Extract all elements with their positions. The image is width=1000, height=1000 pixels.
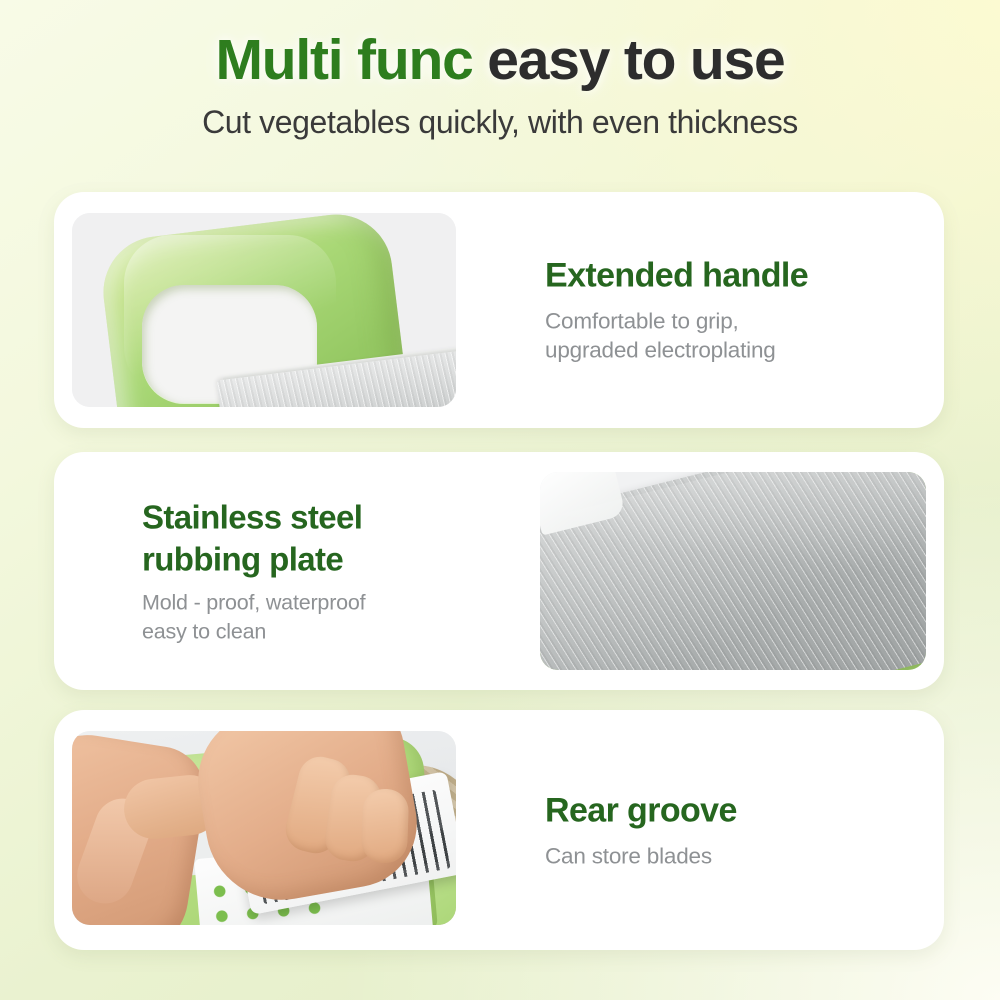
- feature-card-stainless-steel-rubbing-plate: Stainless steelrubbing plate Mold - proo…: [54, 452, 944, 690]
- feature-card-rear-groove: Rear groove Can store blades: [54, 710, 944, 950]
- feature-description: Mold - proof, waterproofeasy to clean: [142, 589, 562, 646]
- product-photo-green-handle: [72, 213, 456, 407]
- feature-heading: Extended handle: [545, 255, 914, 299]
- feature-text-block: Stainless steelrubbing plate Mold - proo…: [142, 496, 562, 645]
- header: Multi func easy to use Cut vegetables qu…: [0, 30, 1000, 141]
- feature-text-block: Rear groove Can store blades: [545, 789, 914, 870]
- feature-heading-line-1: Stainless steel: [142, 498, 362, 535]
- product-feature-infographic: Multi func easy to use Cut vegetables qu…: [0, 0, 1000, 1000]
- page-subtitle: Cut vegetables quickly, with even thickn…: [0, 104, 1000, 141]
- right-finger-3: [361, 788, 410, 864]
- feature-description-line-1: Comfortable to grip,: [545, 308, 739, 333]
- product-photo-blade-insertion: [72, 731, 456, 925]
- feature-text-block: Extended handle Comfortable to grip,upgr…: [545, 255, 914, 366]
- feature-heading: Rear groove: [545, 789, 914, 833]
- feature-heading: Stainless steelrubbing plate: [142, 496, 562, 580]
- feature-description: Comfortable to grip,upgraded electroplat…: [545, 306, 914, 365]
- page-title: Multi func easy to use: [0, 30, 1000, 90]
- feature-heading-line-2: rubbing plate: [142, 541, 343, 578]
- feature-card-extended-handle: Extended handle Comfortable to grip,upgr…: [54, 192, 944, 428]
- feature-description-line-2: upgraded electroplating: [545, 338, 776, 363]
- feature-description-line-1: Mold - proof, waterproof: [142, 591, 365, 615]
- product-photo-steel-plate: [540, 472, 926, 670]
- feature-description: Can store blades: [545, 841, 914, 871]
- feature-description-line-2: easy to clean: [142, 619, 266, 643]
- page-title-dark-part: easy to use: [487, 28, 784, 92]
- page-title-green-part: Multi func: [215, 28, 472, 92]
